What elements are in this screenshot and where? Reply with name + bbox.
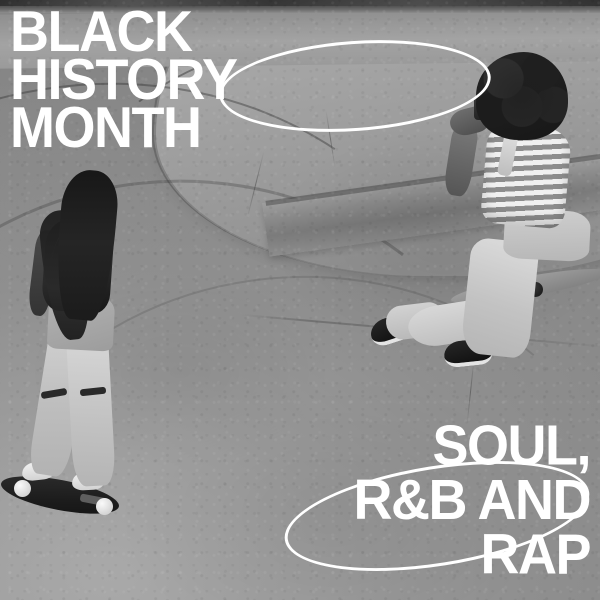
skater-leg-right [66,337,116,487]
headline-block: BLACK HISTORY MONTH [10,8,237,152]
skater-braids [52,168,121,322]
subline-line-1: SOUL, [354,418,590,473]
poster-canvas: BLACK HISTORY MONTH SOUL, R&B AND RAP [0,0,600,600]
subline-line-2: R&B AND [354,473,590,528]
skater-figure [8,168,138,498]
photographer-figure [392,52,600,352]
skateboard-wheel-front [96,498,113,515]
subline-block: SOUL, R&B AND RAP [354,418,590,582]
photographer-afro-hair [476,52,568,140]
subline-line-3: RAP [354,527,590,582]
skateboard-wheel-rear [14,480,31,497]
